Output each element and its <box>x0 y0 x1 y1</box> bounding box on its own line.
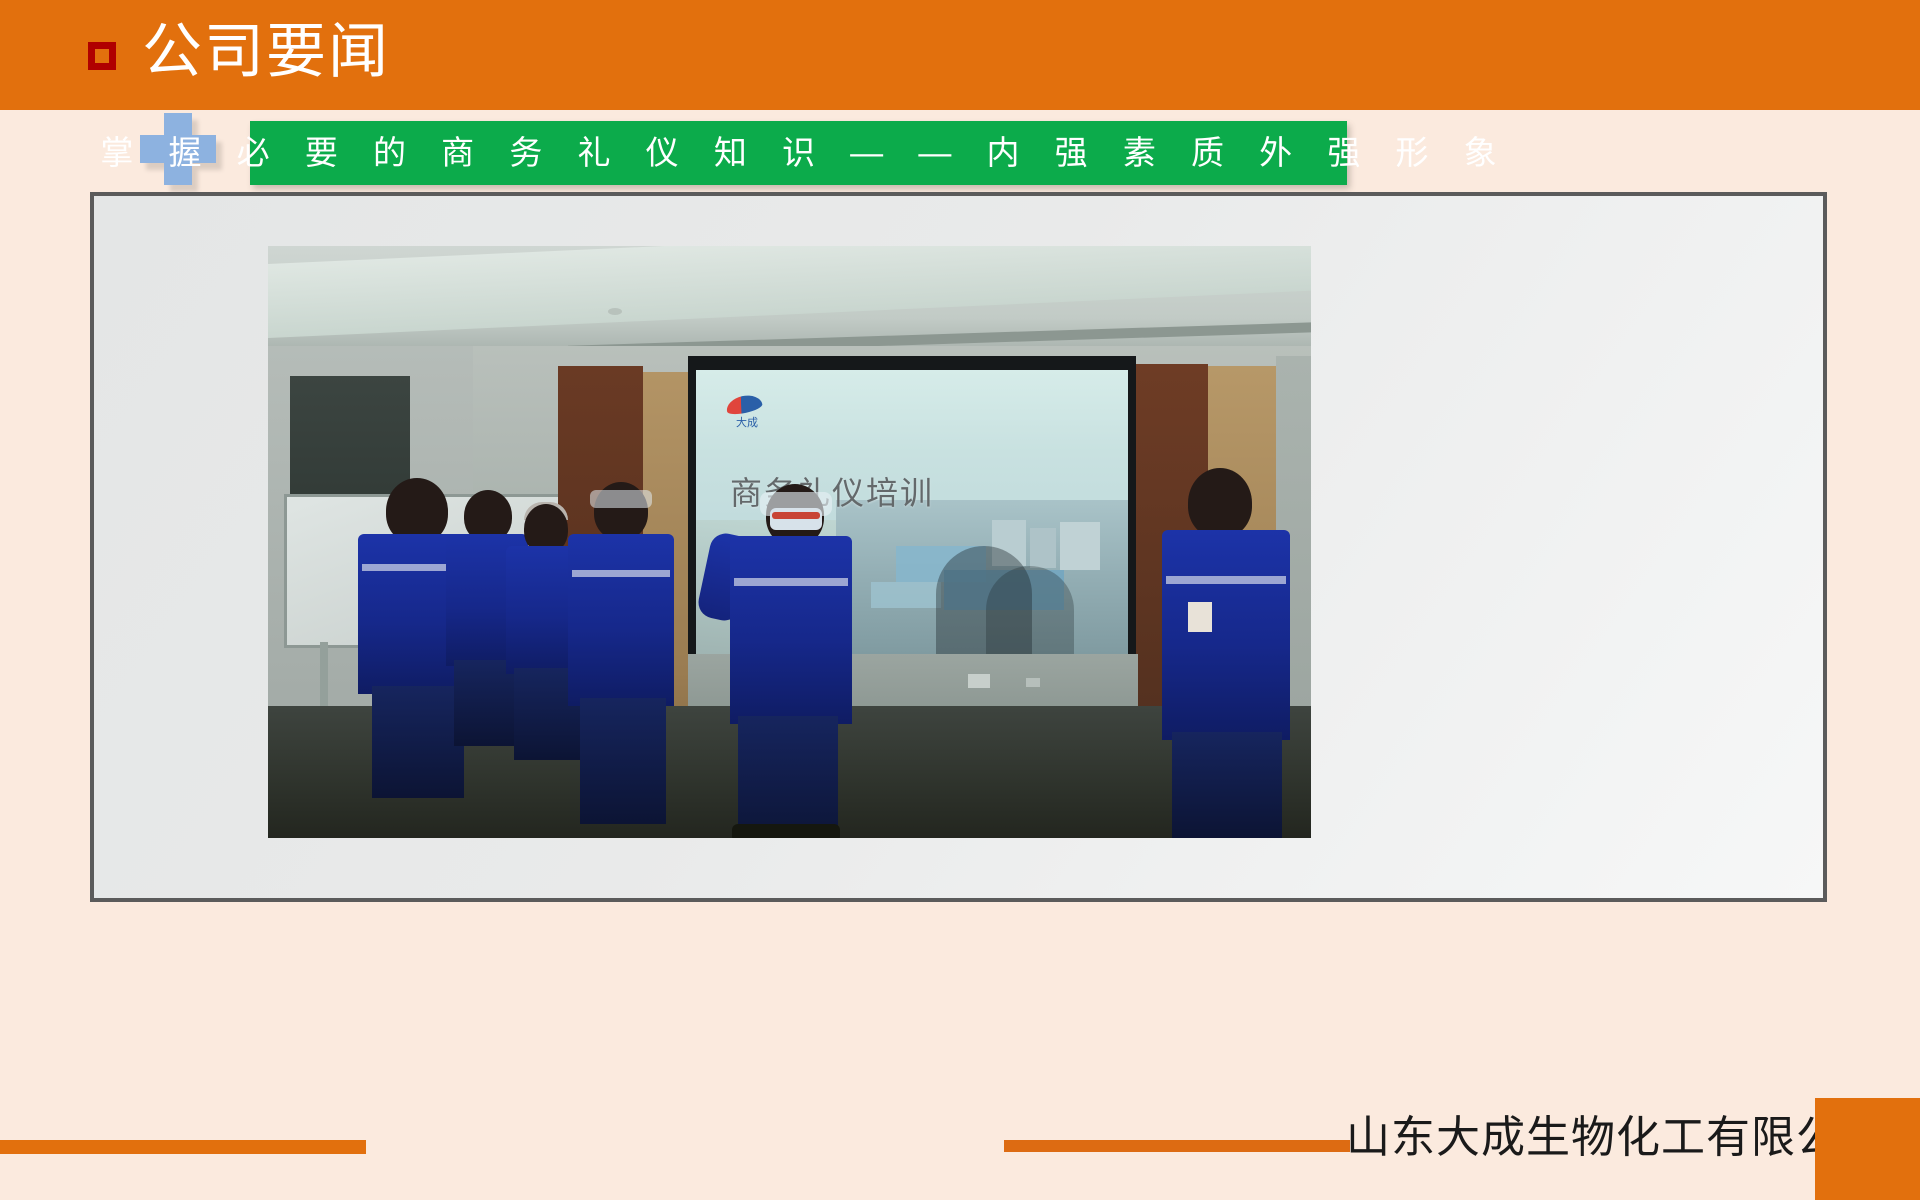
photo-ceiling-light <box>608 308 622 315</box>
header-band: 公司要闻 <box>0 0 1920 110</box>
square-bullet-icon <box>88 42 116 70</box>
headline-banner: 掌 握 必 要 的 商 务 礼 仪 知 识 — — 内 强 素 质 外 强 形 … <box>250 121 1347 185</box>
projected-building <box>1060 522 1100 570</box>
page-title: 公司要闻 <box>142 16 390 88</box>
photo-wall-socket <box>968 674 990 688</box>
footer-rule-left <box>0 1140 366 1154</box>
photo-id-badge <box>1188 602 1212 632</box>
photo-speaker <box>730 536 852 724</box>
photo-shoes <box>732 824 840 838</box>
photo-face-mask-strap <box>772 512 820 519</box>
photo-wall-socket <box>1026 678 1040 687</box>
projected-company-logo-icon: 大成 <box>720 394 774 436</box>
photo-uniform-stripe <box>1166 576 1286 584</box>
photo-person <box>580 698 666 824</box>
projected-building <box>1030 528 1056 568</box>
photo-person <box>1172 732 1282 838</box>
photo-person <box>372 686 464 798</box>
content-frame: 大成 商务礼仪培训 <box>90 192 1827 902</box>
projected-plant-block <box>871 582 941 608</box>
photo-person <box>1188 468 1252 538</box>
header-title-group: 公司要闻 <box>88 16 390 88</box>
footer-rule <box>1004 1140 1350 1152</box>
photo-person <box>1162 530 1290 740</box>
photo-uniform-stripe <box>572 570 670 577</box>
photo-person <box>568 534 674 706</box>
photo-face-shield <box>590 490 652 508</box>
slide-canvas: 公司要闻 掌 握 必 要 的 商 务 礼 仪 知 识 — — 内 强 素 质 外… <box>0 0 1920 1200</box>
projected-silhouette <box>986 566 1074 656</box>
photo-uniform-stripe <box>734 578 848 586</box>
training-photo: 大成 商务礼仪培训 <box>268 246 1311 838</box>
headline-banner-text: 掌 握 必 要 的 商 务 礼 仪 知 识 — — 内 强 素 质 外 强 形 … <box>87 133 1509 173</box>
photo-speaker <box>738 716 838 838</box>
footer-accent-block <box>1815 1098 1920 1200</box>
footer-company-name: 山东大成生物化工有限公司 <box>1346 1106 1886 1170</box>
